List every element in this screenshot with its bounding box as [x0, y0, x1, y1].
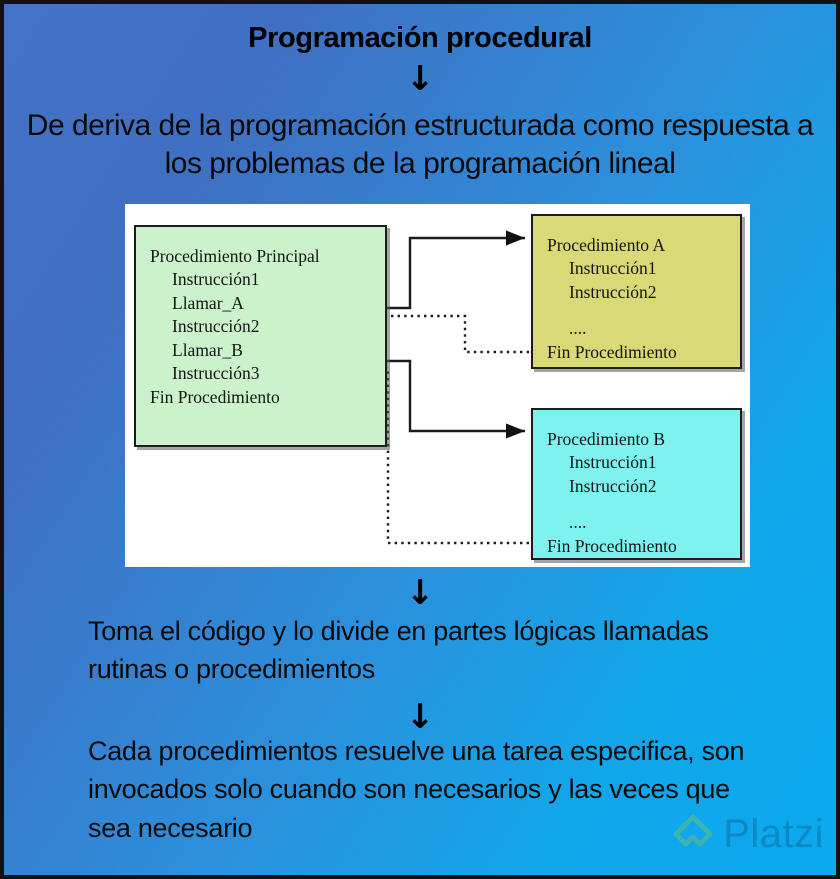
code-line: .... — [547, 511, 740, 534]
connector-call-a — [387, 238, 525, 308]
spacer — [547, 304, 740, 317]
code-line: Instrucción1 — [547, 257, 740, 280]
code-line: Fin Procedimiento — [547, 341, 740, 364]
code-line: Fin Procedimiento — [150, 386, 385, 409]
body-paragraph-2: Cada procedimientos resuelve una tarea e… — [88, 732, 760, 847]
code-line: Instrucción2 — [150, 315, 385, 338]
code-line: Instrucción2 — [547, 475, 740, 498]
page-title: Programación procedural — [4, 22, 836, 55]
code-line: .... — [547, 317, 740, 340]
code-line: Procedimiento A — [547, 234, 740, 257]
body-paragraph-1: Toma el código y lo divide en partes lóg… — [88, 612, 760, 689]
code-box-procedure-a: Procedimiento A Instrucción1 Instrucción… — [531, 214, 742, 369]
code-line: Instrucción1 — [547, 451, 740, 474]
spacer — [547, 498, 740, 511]
code-line: Llamar_A — [150, 292, 385, 315]
diagram-panel: Procedimiento Principal Instrucción1 Lla… — [125, 204, 750, 567]
connector-call-b — [387, 361, 525, 431]
down-arrow-icon: ↓ — [4, 576, 836, 610]
code-line: Llamar_B — [150, 339, 385, 362]
slide-canvas: Programación procedural ↓ De deriva de l… — [0, 0, 840, 879]
code-line: Instrucción2 — [547, 281, 740, 304]
lead-paragraph: De deriva de la programación estructurad… — [4, 107, 836, 184]
code-line: Instrucción3 — [150, 362, 385, 385]
code-line: Procedimiento Principal — [150, 245, 385, 268]
down-arrow-icon: ↓ — [4, 700, 836, 734]
code-box-procedure-b: Procedimiento B Instrucción1 Instrucción… — [531, 408, 742, 560]
code-box-main: Procedimiento Principal Instrucción1 Lla… — [134, 225, 387, 447]
code-line: Instrucción1 — [150, 268, 385, 291]
down-arrow-icon: ↓ — [4, 62, 836, 96]
code-line: Procedimiento B — [547, 428, 740, 451]
code-line: Fin Procedimiento — [547, 535, 740, 558]
